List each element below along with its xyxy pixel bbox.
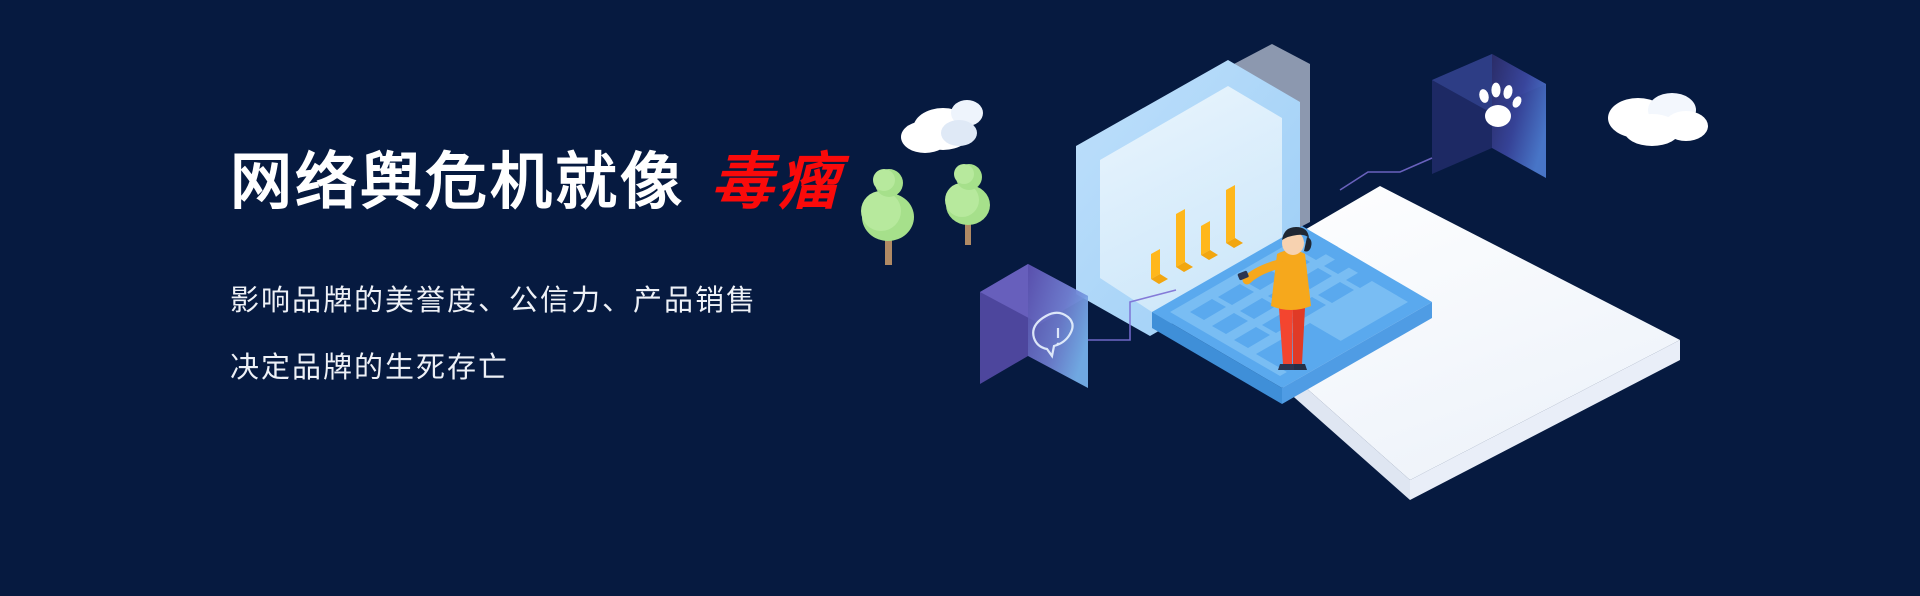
hero-illustration	[980, 40, 1880, 560]
hero-subtitle: 影响品牌的美誉度、公信力、产品销售 决定品牌的生死存亡	[230, 287, 970, 383]
cloud-icon-right	[1608, 93, 1708, 146]
subtitle-line-2: 决定品牌的生死存亡	[230, 354, 970, 383]
hero-banner: 网络舆危机就像毒瘤 影响品牌的美誉度、公信力、产品销售 决定品牌的生死存亡	[0, 0, 1920, 596]
tree-icon	[861, 169, 914, 265]
headline-primary-text: 网络舆危机就像	[230, 148, 685, 217]
cloud-icon	[901, 100, 983, 153]
paw-print-icon	[1340, 54, 1546, 190]
headline-accent-text: 毒瘤	[711, 148, 843, 217]
tree-icon	[945, 164, 990, 245]
foliage-group	[855, 75, 1085, 295]
